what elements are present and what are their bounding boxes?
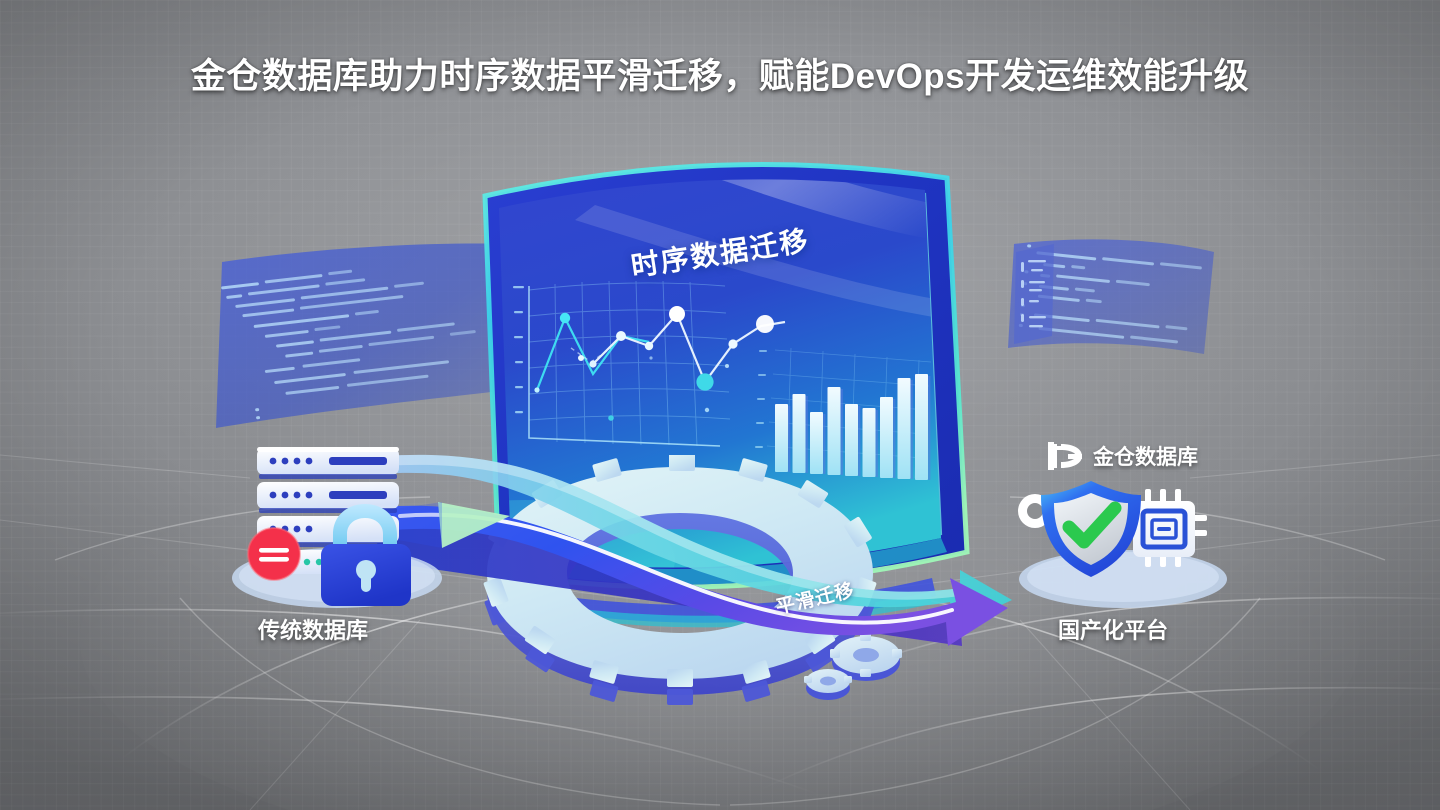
page-title: 金仓数据库助力时序数据平滑迁移，赋能DevOps开发运维效能升级	[0, 48, 1440, 99]
legacy-database-label: 传统数据库	[258, 613, 368, 645]
kingbase-logo-icon	[1048, 440, 1084, 472]
brand-name: 金仓数据库	[1093, 441, 1198, 471]
cpu-chip-icon	[1133, 489, 1207, 567]
legacy-database-group	[225, 430, 460, 610]
brand-lockup: 金仓数据库	[1048, 440, 1198, 472]
migration-arrow-primary	[370, 502, 1008, 646]
floating-code-chip	[1012, 240, 1058, 350]
migration-arrows	[360, 450, 1040, 670]
domestic-platform-label: 国产化平台	[1058, 613, 1168, 645]
slide-canvas: 金仓数据库助力时序数据平滑迁移，赋能DevOps开发运维效能升级	[0, 0, 1440, 810]
blocked-badge-icon	[248, 528, 300, 580]
domestic-platform-group	[1005, 475, 1240, 610]
